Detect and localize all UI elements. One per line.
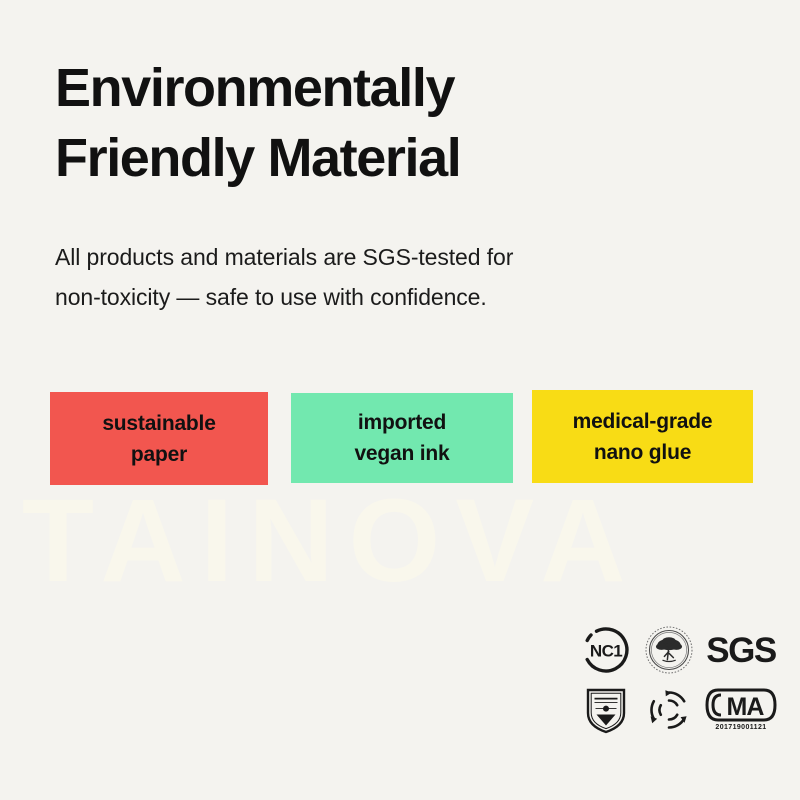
page-subcopy-line-1: All products and materials are SGS-teste… bbox=[55, 237, 655, 277]
page-title: Environmentally Friendly Material bbox=[55, 53, 675, 193]
cma-certification-icon: MA 201719001121 bbox=[701, 680, 781, 740]
material-chip-medical-grade-nano-glue: medical-grade nano glue bbox=[532, 390, 753, 483]
cma-certification-number: 201719001121 bbox=[715, 723, 766, 732]
material-chip-sustainable-paper: sustainable paper bbox=[50, 392, 268, 485]
chip-label-line-2: paper bbox=[131, 439, 187, 470]
chip-label-line-2: vegan ink bbox=[354, 438, 449, 469]
poster-canvas: TAINOVA Environmentally Friendly Materia… bbox=[0, 0, 800, 800]
forest-tree-seal-icon bbox=[637, 620, 701, 680]
svg-text:MA: MA bbox=[727, 693, 765, 721]
page-subcopy: All products and materials are SGS-teste… bbox=[55, 237, 655, 317]
chip-label-line-1: imported bbox=[358, 407, 446, 438]
chip-label-line-2: nano glue bbox=[594, 437, 691, 468]
page-title-line-1: Environmentally bbox=[55, 53, 675, 123]
brand-watermark: TAINOVA bbox=[22, 482, 800, 600]
shield-quality-seal-icon bbox=[575, 680, 637, 740]
page-subcopy-line-2: non-toxicity — safe to use with confiden… bbox=[55, 277, 655, 317]
svg-text:NC1: NC1 bbox=[590, 642, 622, 661]
chip-label-line-1: medical-grade bbox=[573, 406, 713, 437]
nc1-certification-icon: NC1 bbox=[575, 620, 637, 680]
material-chip-imported-vegan-ink: imported vegan ink bbox=[291, 393, 513, 483]
sgs-logo-label: SGS bbox=[706, 633, 775, 668]
material-chip-group: sustainable paper imported vegan ink med… bbox=[50, 390, 755, 486]
recycling-arrows-icon bbox=[637, 680, 701, 740]
page-title-line-2: Friendly Material bbox=[55, 123, 675, 193]
certification-badge-grid: NC1 SGS bbox=[575, 620, 781, 745]
chip-label-line-1: sustainable bbox=[102, 408, 215, 439]
sgs-logo-icon: SGS bbox=[701, 620, 781, 680]
